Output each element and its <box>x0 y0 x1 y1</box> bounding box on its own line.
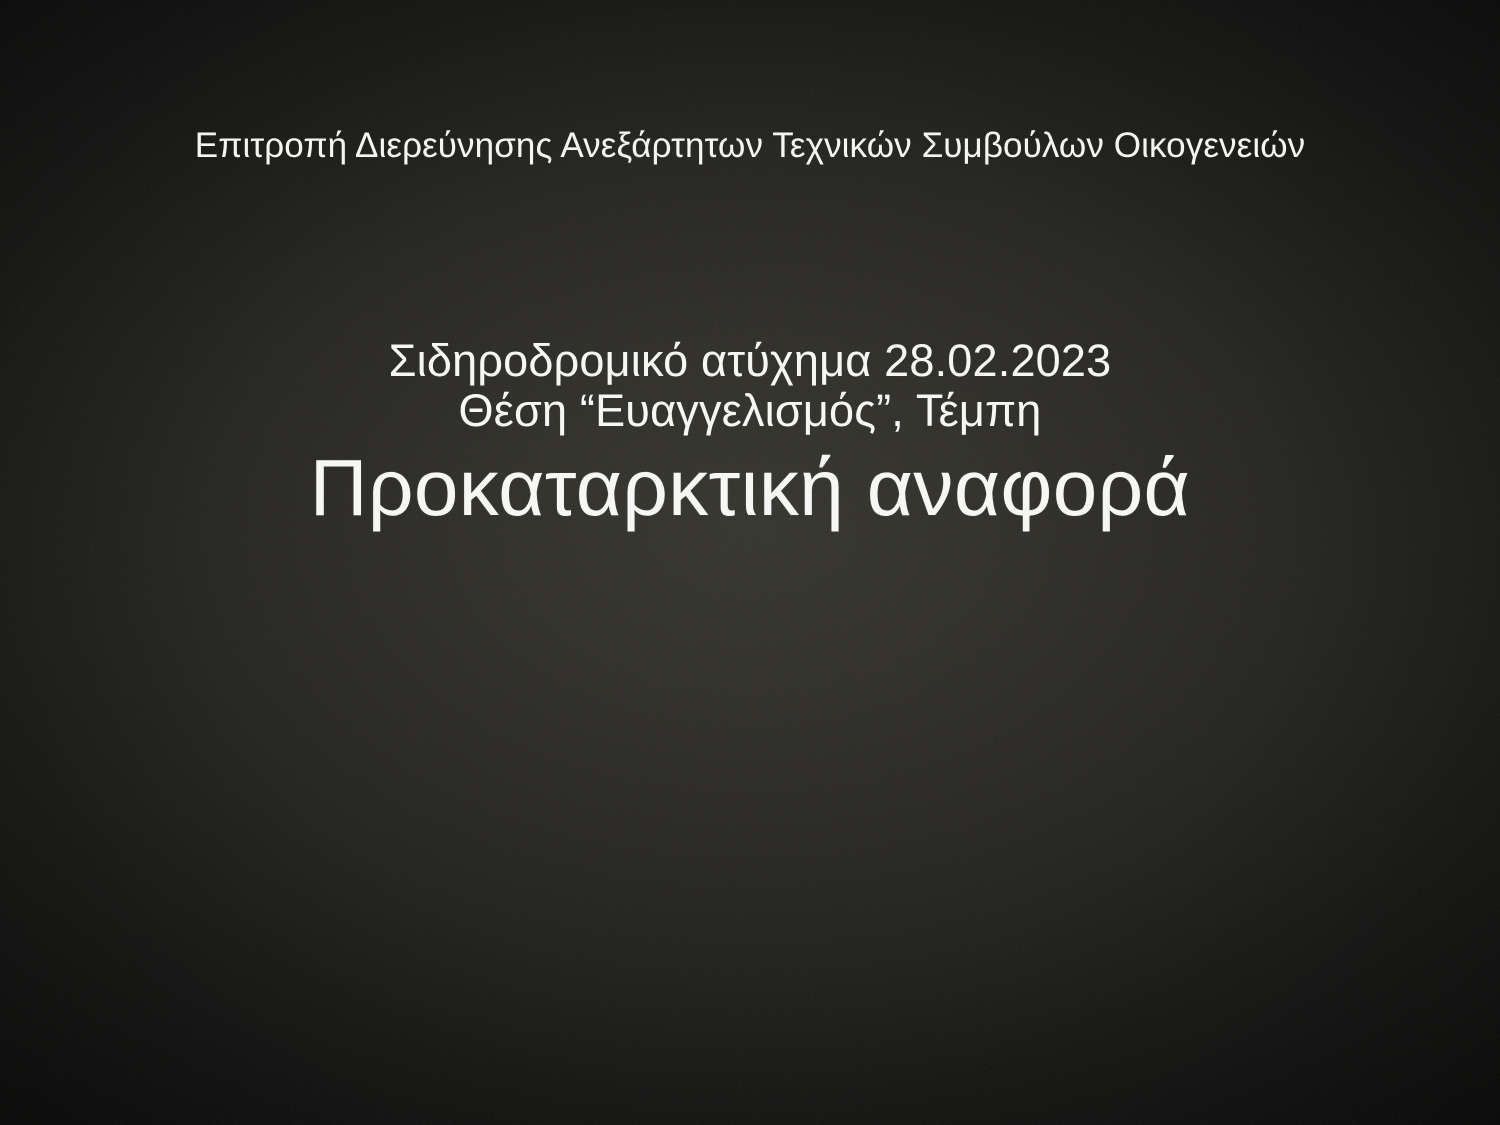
page-title: Προκαταρκτική αναφορά <box>0 442 1500 534</box>
subtitle-line-location: Θέση “Ευαγγελισμός”, Τέμπη <box>0 386 1500 436</box>
subtitle-line-incident: Σιδηροδρομικό ατύχημα 28.02.2023 <box>0 336 1500 386</box>
presentation-slide: Επιτροπή Διερεύνησης Ανεξάρτητων Τεχνικώ… <box>0 0 1500 1125</box>
committee-header: Επιτροπή Διερεύνησης Ανεξάρτητων Τεχνικώ… <box>0 125 1500 168</box>
title-block: Σιδηροδρομικό ατύχημα 28.02.2023 Θέση “Ε… <box>0 336 1500 534</box>
slide-text-layer: Επιτροπή Διερεύνησης Ανεξάρτητων Τεχνικώ… <box>0 0 1500 1125</box>
